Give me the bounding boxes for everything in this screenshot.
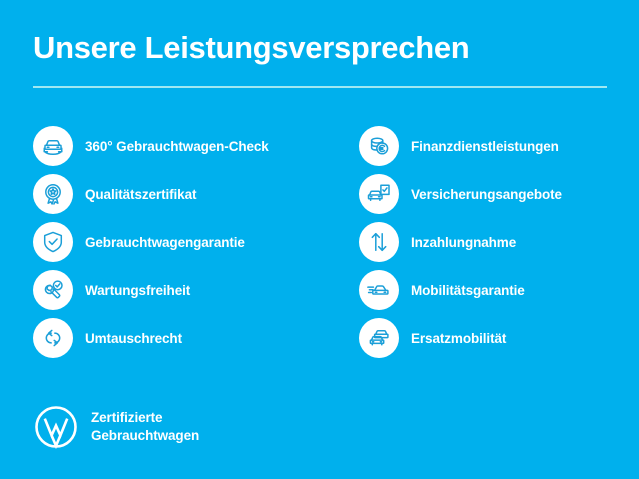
title-divider	[33, 86, 607, 88]
exchange-arrows-icon	[33, 318, 73, 358]
footer-line-2: Gebrauchtwagen	[91, 427, 199, 445]
feature-label: Inzahlungnahme	[411, 235, 516, 250]
feature-item[interactable]: Wartungsfreiheit	[33, 266, 333, 314]
feature-item[interactable]: Gebrauchtwagengarantie	[33, 218, 333, 266]
feature-label: Wartungsfreiheit	[85, 283, 190, 298]
feature-label: 360° Gebrauchtwagen-Check	[85, 139, 269, 154]
shield-check-icon	[33, 222, 73, 262]
feature-item[interactable]: Versicherungsangebote	[359, 170, 629, 218]
feature-label: Finanzdienstleistungen	[411, 139, 559, 154]
features-column-left: 360° Gebrauchtwagen-Check Qualitätszerti…	[33, 122, 333, 362]
two-cars-icon	[359, 318, 399, 358]
up-down-arrows-icon	[359, 222, 399, 262]
footer-line-1: Zertifizierte	[91, 409, 199, 427]
quality-rosette-icon	[33, 174, 73, 214]
features-column-right: Finanzdienstleistungen Versicheru	[359, 122, 629, 362]
feature-item[interactable]: 360° Gebrauchtwagen-Check	[33, 122, 333, 170]
feature-label: Gebrauchtwagengarantie	[85, 235, 245, 250]
feature-label: Versicherungsangebote	[411, 187, 562, 202]
feature-label: Ersatzmobilität	[411, 331, 506, 346]
car-motion-icon	[359, 270, 399, 310]
page-title: Unsere Leistungsversprechen	[33, 31, 469, 65]
volkswagen-logo-icon	[33, 404, 79, 450]
feature-label: Qualitätszertifikat	[85, 187, 196, 202]
feature-item[interactable]: Qualitätszertifikat	[33, 170, 333, 218]
feature-label: Mobilitätsgarantie	[411, 283, 525, 298]
feature-item[interactable]: Ersatzmobilität	[359, 314, 629, 362]
feature-item[interactable]: Umtauschrecht	[33, 314, 333, 362]
feature-item[interactable]: Finanzdienstleistungen	[359, 122, 629, 170]
coins-euro-icon	[359, 126, 399, 166]
car-360-check-icon	[33, 126, 73, 166]
feature-item[interactable]: Inzahlungnahme	[359, 218, 629, 266]
footer-brand: Zertifizierte Gebrauchtwagen	[33, 404, 199, 450]
footer-brand-text: Zertifizierte Gebrauchtwagen	[91, 409, 199, 445]
car-document-check-icon	[359, 174, 399, 214]
feature-label: Umtauschrecht	[85, 331, 182, 346]
feature-item[interactable]: Mobilitätsgarantie	[359, 266, 629, 314]
wrench-check-icon	[33, 270, 73, 310]
leistungsversprechen-poster: Unsere Leistungsversprechen 360° Gebrauc	[0, 0, 639, 479]
